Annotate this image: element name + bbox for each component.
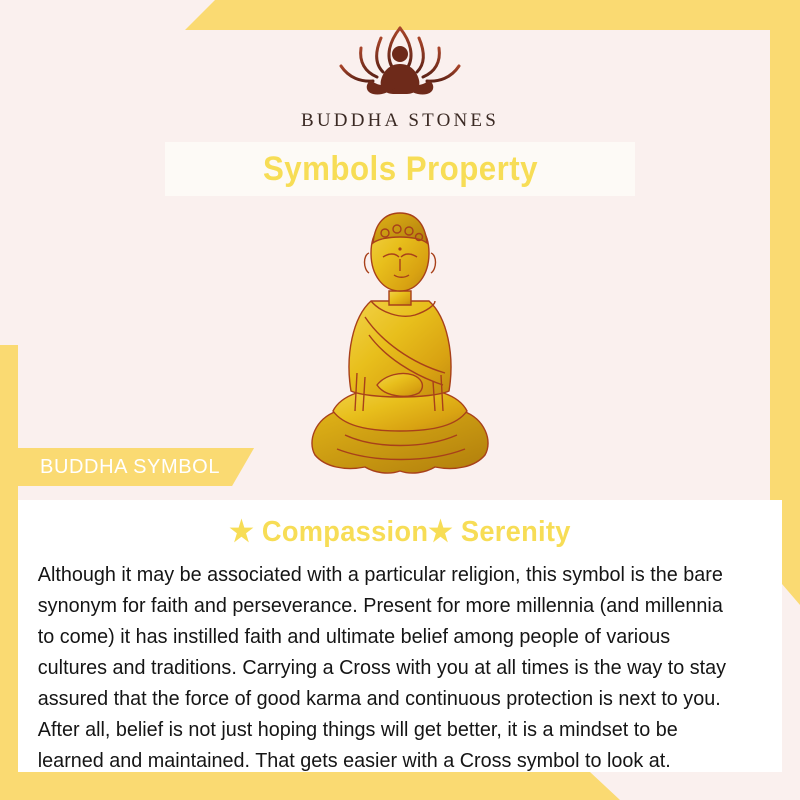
symbol-tag-label: BUDDHA SYMBOL	[40, 456, 220, 479]
lotus-meditation-figure-logo-icon	[325, 22, 475, 104]
symbol-tag: BUDDHA SYMBOL	[18, 448, 254, 486]
golden-seated-buddha-statue-icon	[285, 205, 515, 490]
brand-name: BUDDHA STONES	[301, 110, 499, 132]
content-headline: ★ Compassion★ Serenity	[54, 514, 746, 549]
brand-header: BUDDHA STONES	[0, 22, 800, 132]
artwork-container	[0, 205, 800, 490]
content-body: Although it may be associated with a par…	[32, 559, 742, 776]
content-panel: ★ Compassion★ Serenity Although it may b…	[18, 500, 782, 772]
page-title: Symbols Property	[262, 150, 537, 189]
title-banner: Symbols Property	[165, 142, 635, 196]
